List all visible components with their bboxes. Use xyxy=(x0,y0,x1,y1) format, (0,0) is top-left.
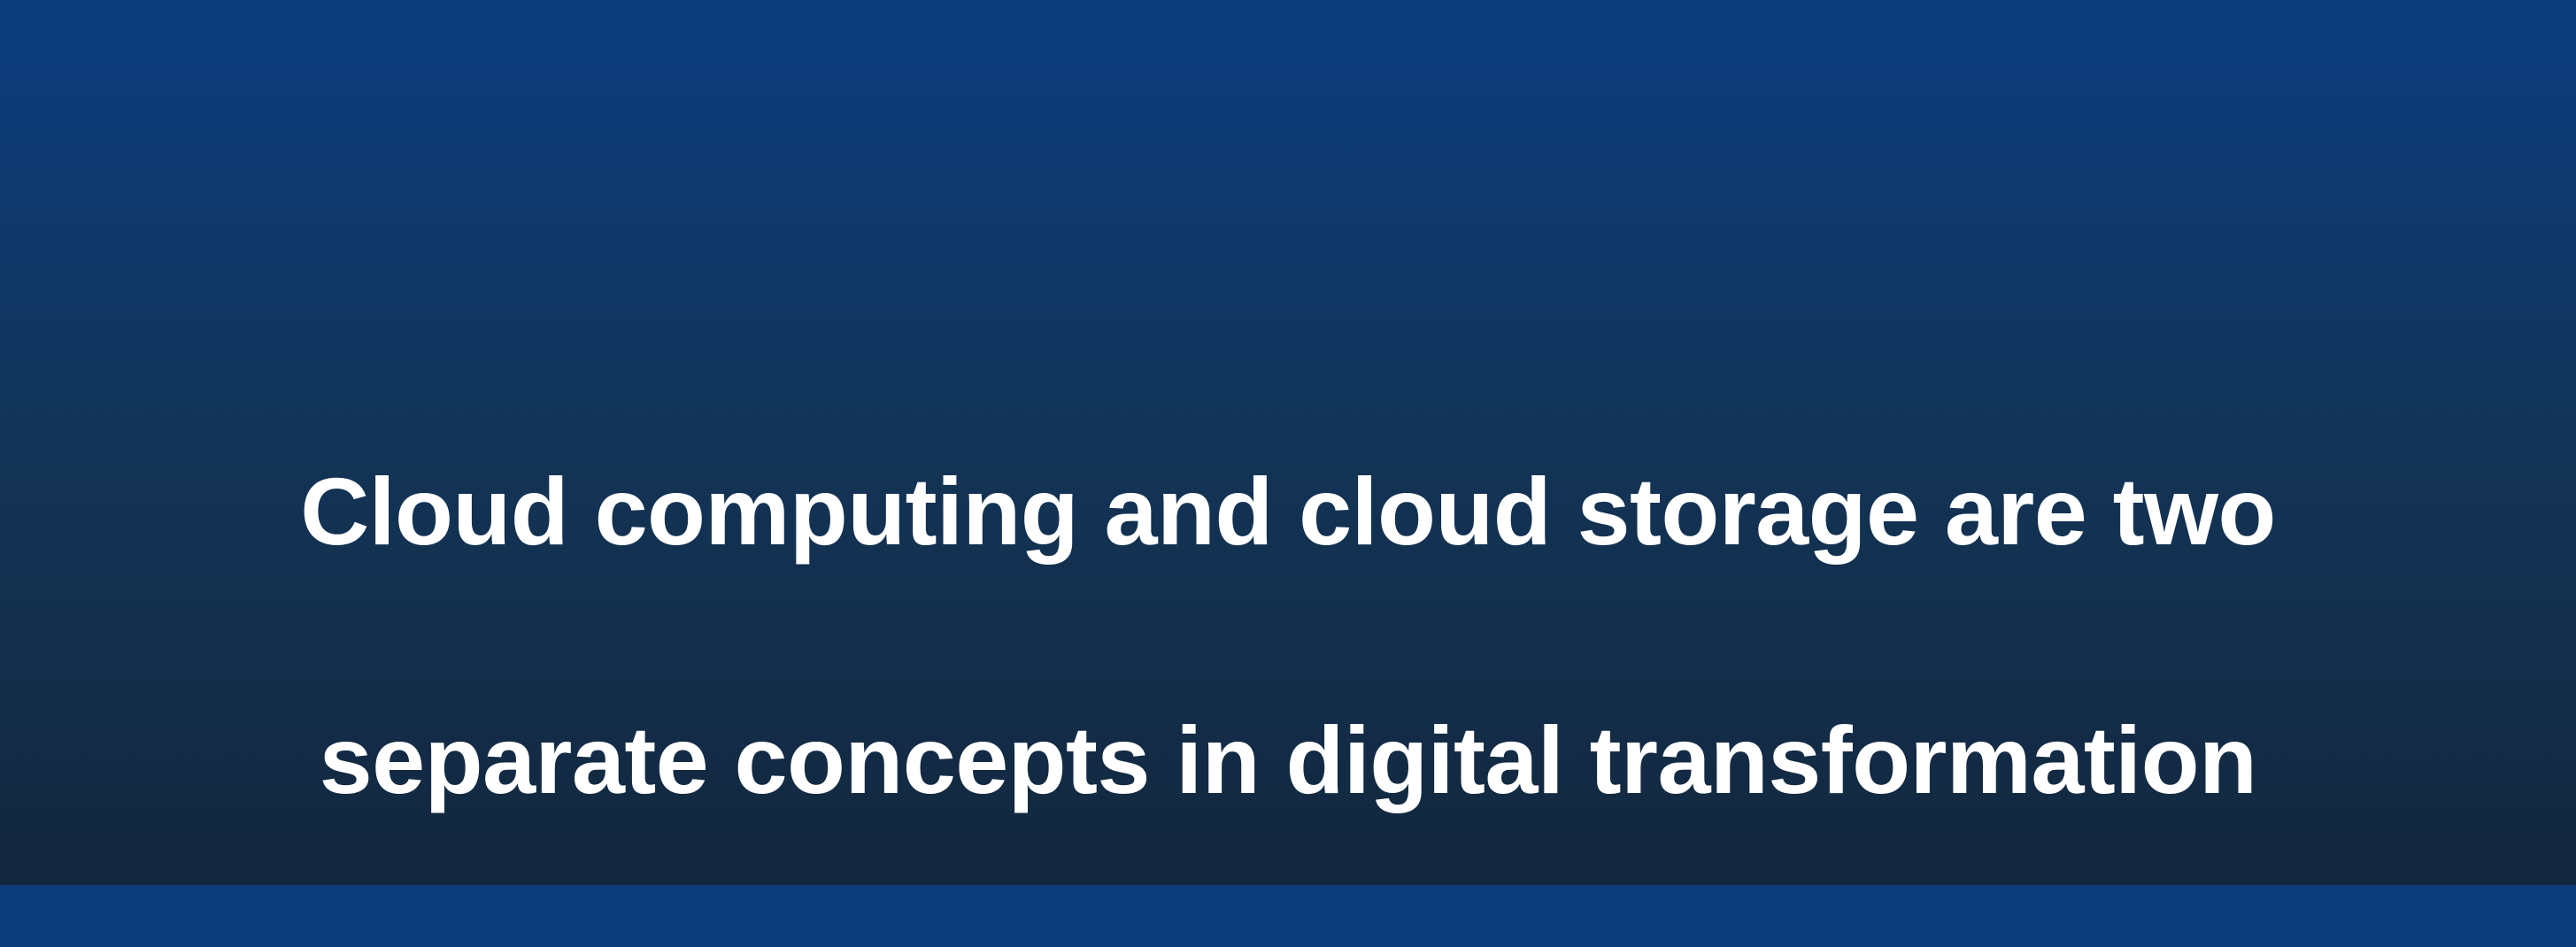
headline-line-1: Cloud computing and cloud storage are tw… xyxy=(168,450,2408,574)
headline-line-2: separate concepts in digital transformat… xyxy=(168,698,2408,822)
headline-block: Cloud computing and cloud storage are tw… xyxy=(0,326,2576,947)
page-title: Cloud computing and cloud storage are tw… xyxy=(168,326,2408,947)
slide-canvas: Cloud computing and cloud storage are tw… xyxy=(0,0,2576,885)
